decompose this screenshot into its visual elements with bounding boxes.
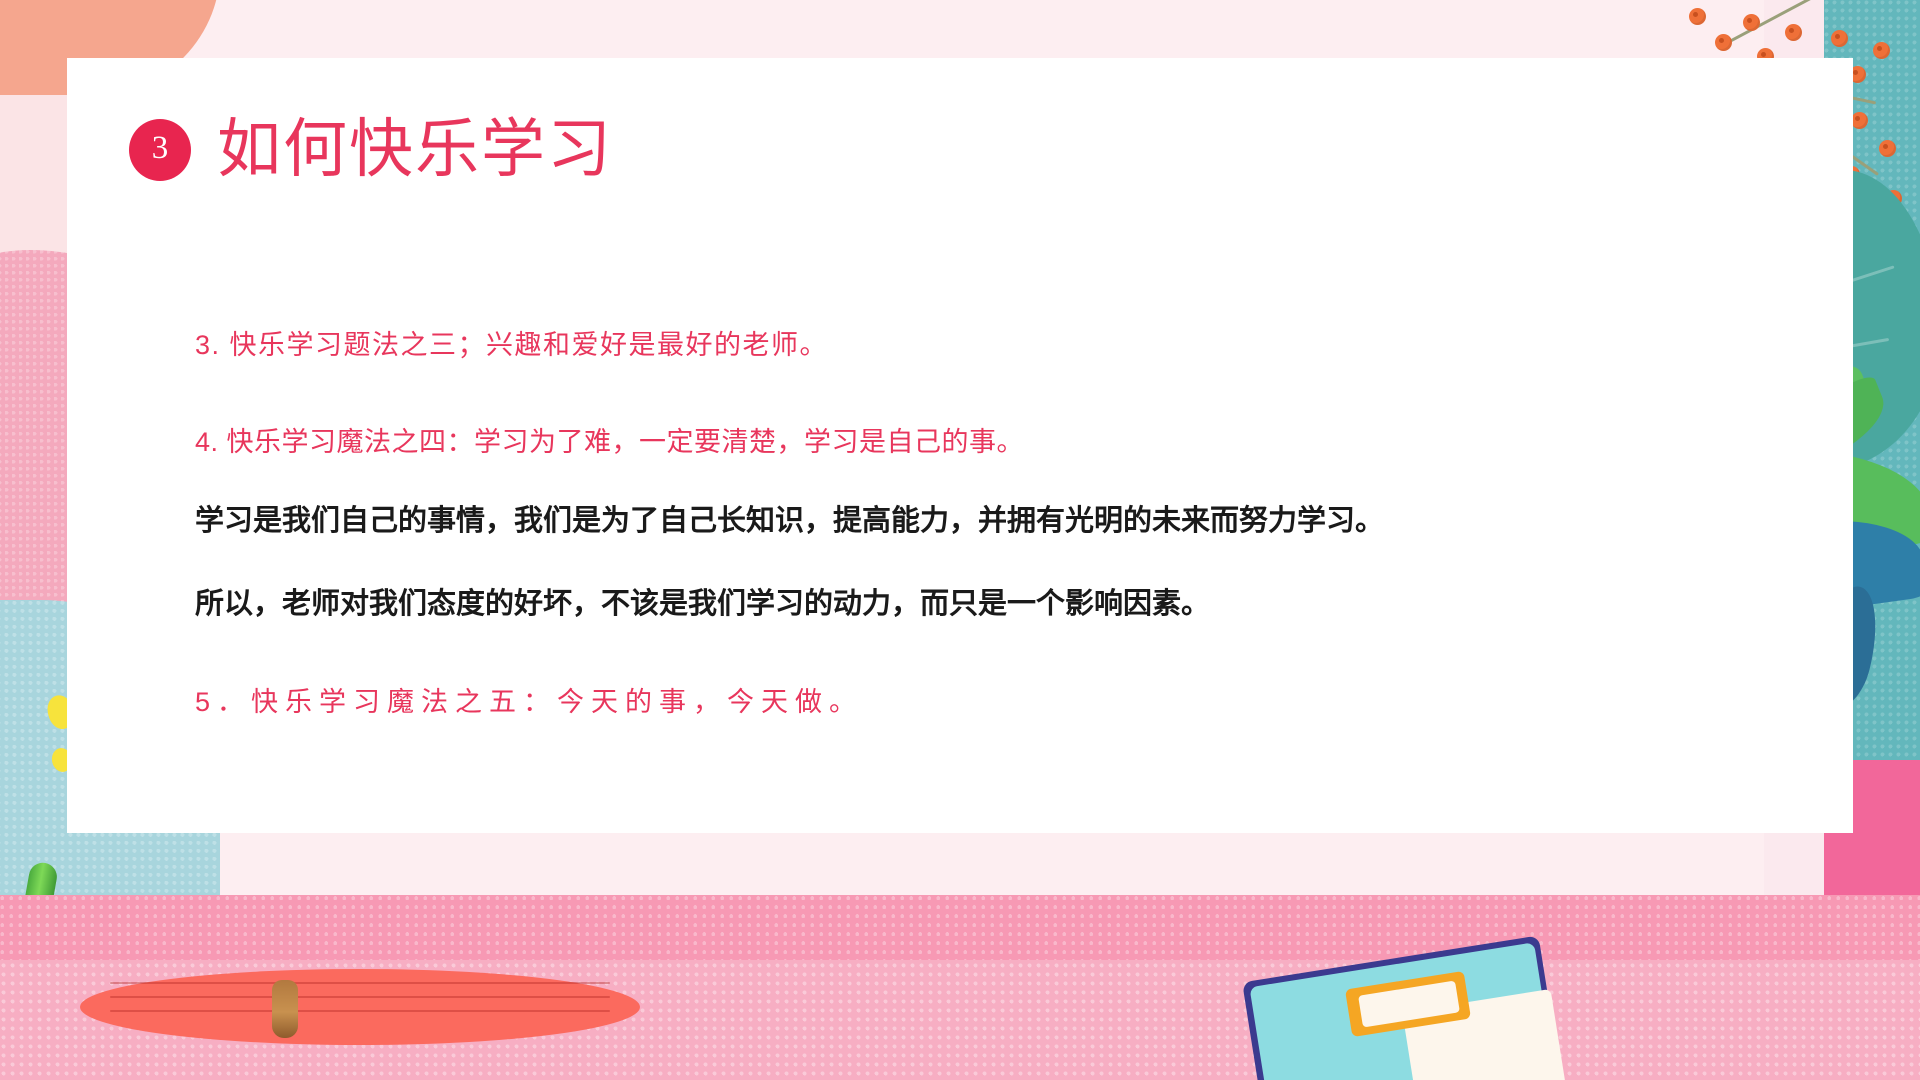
body-line-magic-four-detail-1: 学习是我们自己的事情，我们是为了自己长知识，提高能力，并拥有光明的未来而努力学习… <box>195 497 1755 539</box>
berry-icon <box>1785 24 1802 41</box>
berry-icon <box>1851 112 1868 129</box>
mat-line <box>110 982 610 984</box>
berry-icon <box>1879 140 1896 157</box>
body-line-magic-three: 3. 快乐学习题法之三；兴趣和爱好是最好的老师。 <box>195 323 1755 362</box>
berry-icon <box>1831 30 1848 47</box>
mat-line <box>110 996 610 998</box>
coral-mat-shape <box>80 969 640 1045</box>
slide-title-row: 3 如何快乐学习 <box>129 116 613 183</box>
body-line-magic-four: 4. 快乐学习魔法之四：学习为了难，一定要清楚，学习是自己的事。 <box>195 420 1755 459</box>
page-title: 如何快乐学习 <box>217 116 613 183</box>
body-line-magic-four-detail-2: 所以，老师对我们态度的好坏，不该是我们学习的动力，而只是一个影响因素。 <box>195 580 1755 622</box>
body-line-magic-five: 5．快乐学习魔法之五：今天的事，今天做。 <box>195 680 1755 719</box>
mat-line <box>110 1010 610 1012</box>
berry-icon <box>1715 34 1732 51</box>
presentation-slide: 3 如何快乐学习 3. 快乐学习题法之三；兴趣和爱好是最好的老师。 4. 快乐学… <box>0 0 1920 1080</box>
pencil-icon <box>272 980 298 1038</box>
berry-icon <box>1689 8 1706 25</box>
berry-icon <box>1873 42 1890 59</box>
section-number-badge: 3 <box>129 119 191 181</box>
spacer <box>195 539 1755 580</box>
content-card: 3 如何快乐学习 3. 快乐学习题法之三；兴趣和爱好是最好的老师。 4. 快乐学… <box>67 58 1853 833</box>
slide-body-content: 3. 快乐学习题法之三；兴趣和爱好是最好的老师。 4. 快乐学习魔法之四：学习为… <box>195 323 1755 719</box>
spacer <box>195 362 1755 420</box>
berry-icon <box>1743 14 1760 31</box>
spacer <box>195 622 1755 680</box>
spacer <box>195 459 1755 497</box>
